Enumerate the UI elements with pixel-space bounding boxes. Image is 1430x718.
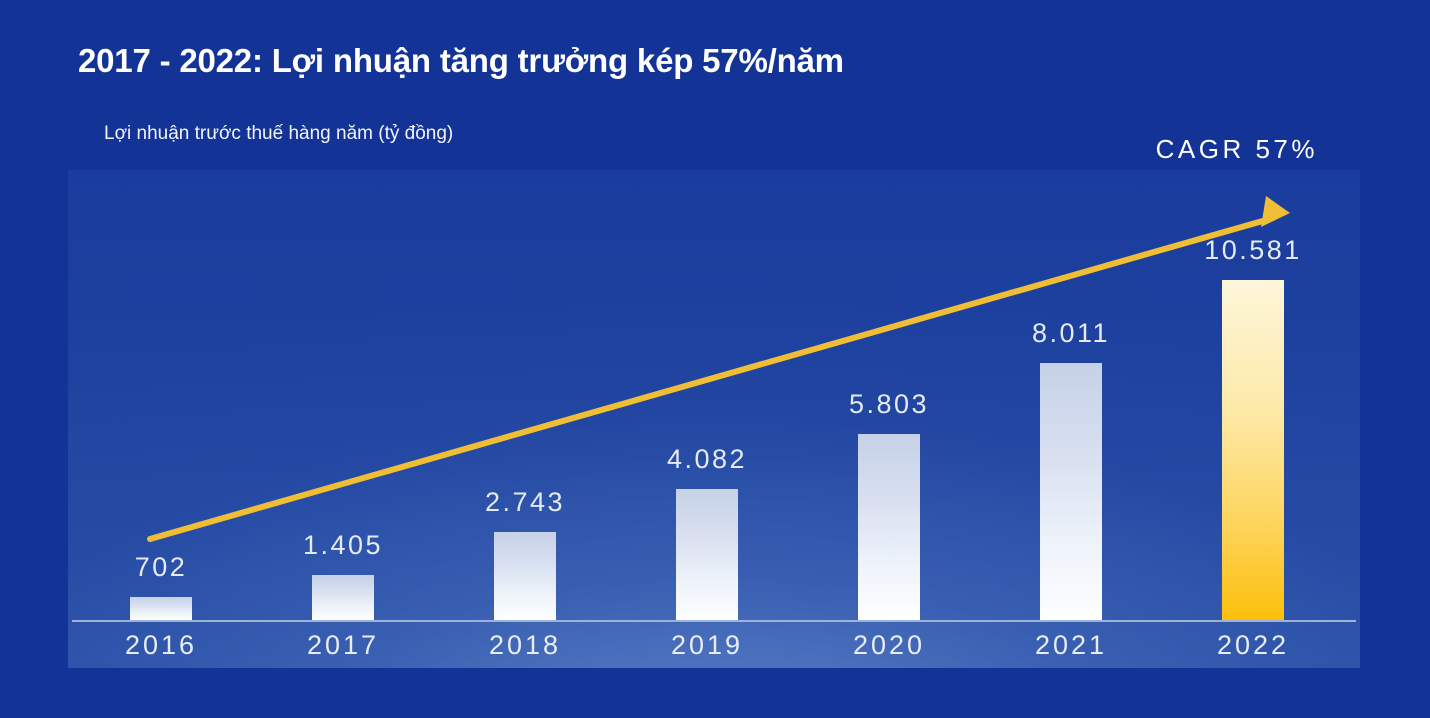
axis-tick-2016: 2016: [70, 630, 252, 661]
bar-value-2021: 8.011: [980, 318, 1162, 349]
page-title: 2017 - 2022: Lợi nhuận tăng trưởng kép 5…: [78, 42, 844, 80]
bar-2020[interactable]: [858, 434, 920, 620]
bar-value-2018: 2.743: [434, 487, 616, 518]
bar-2017[interactable]: [312, 575, 374, 620]
bar-group-2022: 10.581: [1222, 170, 1284, 620]
bar-group-2018: 2.743: [494, 170, 556, 620]
axis-tick-2021: 2021: [980, 630, 1162, 661]
bar-value-2019: 4.082: [616, 444, 798, 475]
bar-value-2016: 702: [70, 552, 252, 583]
bar-group-2019: 4.082: [676, 170, 738, 620]
axis-tick-2018: 2018: [434, 630, 616, 661]
chart-subtitle: Lợi nhuận trước thuế hàng năm (tỷ đồng): [104, 123, 453, 145]
bar-group-2017: 1.405: [312, 170, 374, 620]
bar-value-2020: 5.803: [798, 389, 980, 420]
axis-tick-2022: 2022: [1162, 630, 1344, 661]
bar-group-2016: 702: [130, 170, 192, 620]
axis-tick-2020: 2020: [798, 630, 980, 661]
bar-group-2021: 8.011: [1040, 170, 1102, 620]
bar-2021[interactable]: [1040, 363, 1102, 620]
plot-area: 7021.4052.7434.0825.8038.01110.581: [68, 170, 1360, 620]
x-axis-line: [72, 620, 1356, 622]
x-axis-labels: 2016201720182019202020212022: [68, 630, 1360, 668]
bar-2019[interactable]: [676, 489, 738, 620]
bar-2018[interactable]: [494, 532, 556, 620]
chart-panel: 7021.4052.7434.0825.8038.01110.581 20162…: [68, 170, 1360, 668]
bar-2016[interactable]: [130, 597, 192, 620]
bar-value-2017: 1.405: [252, 530, 434, 561]
axis-tick-2019: 2019: [616, 630, 798, 661]
bar-value-2022: 10.581: [1162, 235, 1344, 266]
bar-group-2020: 5.803: [858, 170, 920, 620]
cagr-badge: CAGR 57%: [1156, 134, 1318, 165]
axis-tick-2017: 2017: [252, 630, 434, 661]
bar-2022[interactable]: [1222, 280, 1284, 620]
